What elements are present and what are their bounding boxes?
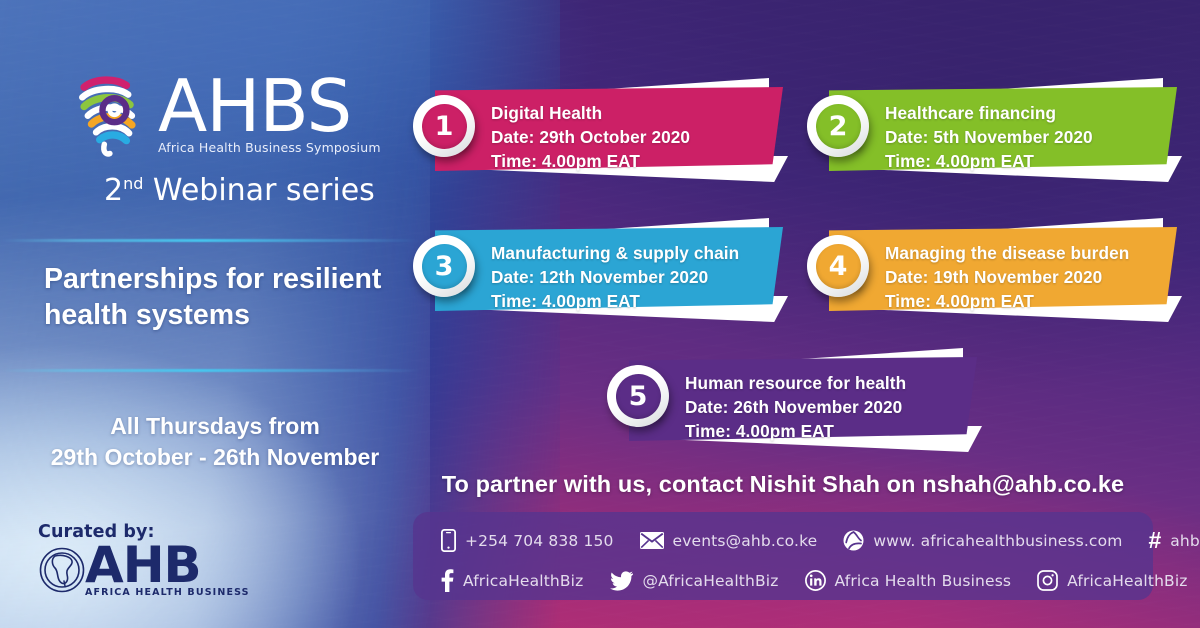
session-badge-4: 4 — [807, 235, 869, 297]
logo-subtitle: Africa Health Business Symposium — [158, 140, 381, 155]
session-card-3-text: Manufacturing & supply chain Date: 12th … — [491, 241, 739, 313]
webinar-series-ordinal-number: 2 — [104, 173, 123, 208]
session-title-3: Manufacturing & supply chain — [491, 241, 739, 265]
contact-hashtag[interactable]: # ahbs2020 — [1148, 529, 1200, 552]
session-badge-3: 3 — [413, 235, 475, 297]
session-card-1-text: Digital Health Date: 29th October 2020 T… — [491, 101, 690, 173]
envelope-icon — [640, 532, 664, 549]
contact-phone[interactable]: +254 704 838 150 — [441, 529, 614, 552]
webinar-series-label: Webinar series — [143, 173, 374, 208]
session-date-4: Date: 19th November 2020 — [885, 265, 1129, 289]
session-badge-1: 1 — [413, 95, 475, 157]
session-title-5: Human resource for health — [685, 371, 906, 395]
logo-wordmark: AHBS — [158, 64, 351, 148]
schedule-line-1: All Thursdays from — [20, 411, 410, 442]
social-facebook-text: AfricaHealthBiz — [463, 572, 583, 590]
session-title-1: Digital Health — [491, 101, 690, 125]
poster-canvas: AHBS Africa Health Business Symposium 2n… — [0, 0, 1200, 628]
session-number-4: 4 — [816, 244, 861, 289]
session-card-4[interactable]: 4 Managing the disease burden Date: 19th… — [807, 218, 1187, 322]
ahb-acronym: AHB — [85, 543, 250, 588]
session-date-3: Date: 12th November 2020 — [491, 265, 739, 289]
facebook-icon — [441, 569, 454, 592]
social-instagram-text: AfricaHealthBiz — [1067, 572, 1187, 590]
session-number-5: 5 — [616, 374, 661, 419]
session-card-5-text: Human resource for health Date: 26th Nov… — [685, 371, 906, 443]
contact-phone-text: +254 704 838 150 — [465, 532, 614, 550]
session-time-3: Time: 4.00pm EAT — [491, 289, 739, 313]
africa-globe-icon — [38, 546, 86, 594]
session-date-2: Date: 5th November 2020 — [885, 125, 1093, 149]
ahbs-logo-block: AHBS Africa Health Business Symposium — [62, 63, 372, 159]
webinar-series-ordinal-suffix: nd — [123, 174, 143, 193]
poster-tagline: Partnerships for resilient health system… — [44, 261, 394, 333]
curated-by-block: Curated by: AHB AFRICA HEALTH BUSINESS — [38, 522, 268, 598]
contact-website[interactable]: www. africahealthbusiness.com — [843, 530, 1122, 551]
session-card-2[interactable]: 2 Healthcare financing Date: 5th Novembe… — [807, 78, 1187, 182]
phone-icon — [441, 529, 456, 552]
session-time-5: Time: 4.00pm EAT — [685, 419, 906, 443]
instagram-icon — [1037, 570, 1058, 591]
schedule-line-2: 29th October - 26th November — [20, 442, 410, 473]
linkedin-icon — [805, 570, 826, 591]
contact-row-primary: +254 704 838 150 events@ahb.co.ke www. a… — [441, 525, 1125, 556]
contact-bar: +254 704 838 150 events@ahb.co.ke www. a… — [413, 512, 1153, 600]
contact-email-text: events@ahb.co.ke — [673, 532, 818, 550]
webinar-series-heading: 2nd Webinar series — [104, 173, 375, 208]
social-twitter[interactable]: @AfricaHealthBiz — [609, 571, 778, 591]
session-card-4-text: Managing the disease burden Date: 19th N… — [885, 241, 1129, 313]
session-card-3[interactable]: 3 Manufacturing & supply chain Date: 12t… — [413, 218, 793, 322]
session-badge-5: 5 — [607, 365, 669, 427]
session-number-2: 2 — [816, 104, 861, 149]
hashtag-icon: # — [1148, 529, 1161, 552]
contact-hashtag-text: ahbs2020 — [1170, 532, 1200, 550]
contact-email[interactable]: events@ahb.co.ke — [640, 532, 818, 550]
session-title-2: Healthcare financing — [885, 101, 1093, 125]
session-title-4: Managing the disease burden — [885, 241, 1129, 265]
session-date-5: Date: 26th November 2020 — [685, 395, 906, 419]
session-time-2: Time: 4.00pm EAT — [885, 149, 1093, 173]
session-card-5[interactable]: 5 Human resource for health Date: 26th N… — [607, 348, 987, 452]
session-number-1: 1 — [422, 104, 467, 149]
social-instagram[interactable]: AfricaHealthBiz — [1037, 570, 1187, 591]
session-time-4: Time: 4.00pm EAT — [885, 289, 1129, 313]
session-badge-2: 2 — [807, 95, 869, 157]
session-number-3: 3 — [422, 244, 467, 289]
twitter-icon — [609, 571, 633, 591]
ahb-full-name: AFRICA HEALTH BUSINESS — [85, 589, 250, 598]
globe-icon — [843, 530, 864, 551]
partner-contact-line: To partner with us, contact Nishit Shah … — [413, 471, 1153, 498]
social-facebook[interactable]: AfricaHealthBiz — [441, 569, 583, 592]
session-card-1[interactable]: 1 Digital Health Date: 29th October 2020… — [413, 78, 793, 182]
social-linkedin-text: Africa Health Business — [835, 572, 1012, 590]
schedule-block: All Thursdays from 29th October - 26th N… — [20, 411, 410, 473]
africa-swirl-icon — [62, 67, 154, 159]
social-linkedin[interactable]: Africa Health Business — [805, 570, 1012, 591]
social-twitter-text: @AfricaHealthBiz — [642, 572, 778, 590]
session-card-2-text: Healthcare financing Date: 5th November … — [885, 101, 1093, 173]
contact-row-social: AfricaHealthBiz @AfricaHealthBiz Africa … — [441, 565, 1125, 596]
session-time-1: Time: 4.00pm EAT — [491, 149, 690, 173]
session-date-1: Date: 29th October 2020 — [491, 125, 690, 149]
contact-website-text: www. africahealthbusiness.com — [873, 532, 1122, 550]
